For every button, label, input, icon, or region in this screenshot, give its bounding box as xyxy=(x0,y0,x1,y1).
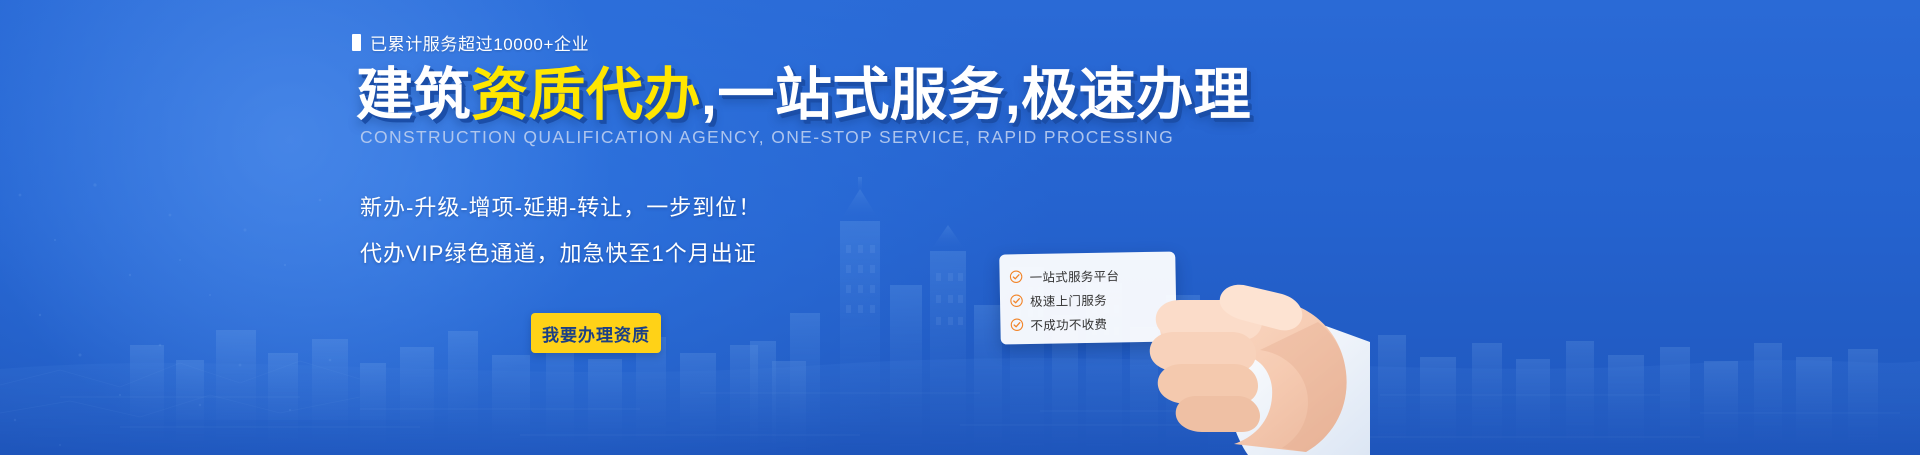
apply-qualification-button[interactable]: 我要办理资质 xyxy=(531,313,661,353)
eyebrow-line: 已累计服务超过10000+企业 xyxy=(352,30,589,55)
square-bullet-icon xyxy=(352,34,361,51)
bullet-line-1: 新办-升级-增项-延期-转让，一步到位！ xyxy=(360,190,761,222)
hand-illustration xyxy=(1130,230,1370,455)
feature-label: 一站式服务平台 xyxy=(1029,265,1119,286)
bullet-list: 新办-升级-增项-延期-转让，一步到位！ 代办VIP绿色通道，加急快至1个月出证 xyxy=(360,190,761,282)
check-circle-icon xyxy=(1010,294,1023,307)
eyebrow-text: 已累计服务超过10000+企业 xyxy=(370,30,589,55)
feature-label: 不成功不收费 xyxy=(1030,314,1107,334)
feature-label: 极速上门服务 xyxy=(1030,290,1107,310)
headline-part-2: ,一站式服务,极速办理 xyxy=(701,63,1251,127)
bullet-line-2: 代办VIP绿色通道，加急快至1个月出证 xyxy=(360,236,761,268)
promo-banner: 已累计服务超过10000+企业 建筑资质代办,一站式服务,极速办理 CONSTR… xyxy=(0,0,1920,455)
headline-part-1: 建筑 xyxy=(356,63,471,127)
banner-content: 已累计服务超过10000+企业 建筑资质代办,一站式服务,极速办理 CONSTR… xyxy=(0,0,1920,455)
check-circle-icon xyxy=(1010,270,1023,283)
headline-highlight: 资质代办 xyxy=(471,63,701,127)
page-title: 建筑资质代办,一站式服务,极速办理 xyxy=(356,66,1251,126)
subtitle-english: CONSTRUCTION QUALIFICATION AGENCY, ONE-S… xyxy=(360,127,1174,148)
check-circle-icon xyxy=(1010,318,1023,331)
